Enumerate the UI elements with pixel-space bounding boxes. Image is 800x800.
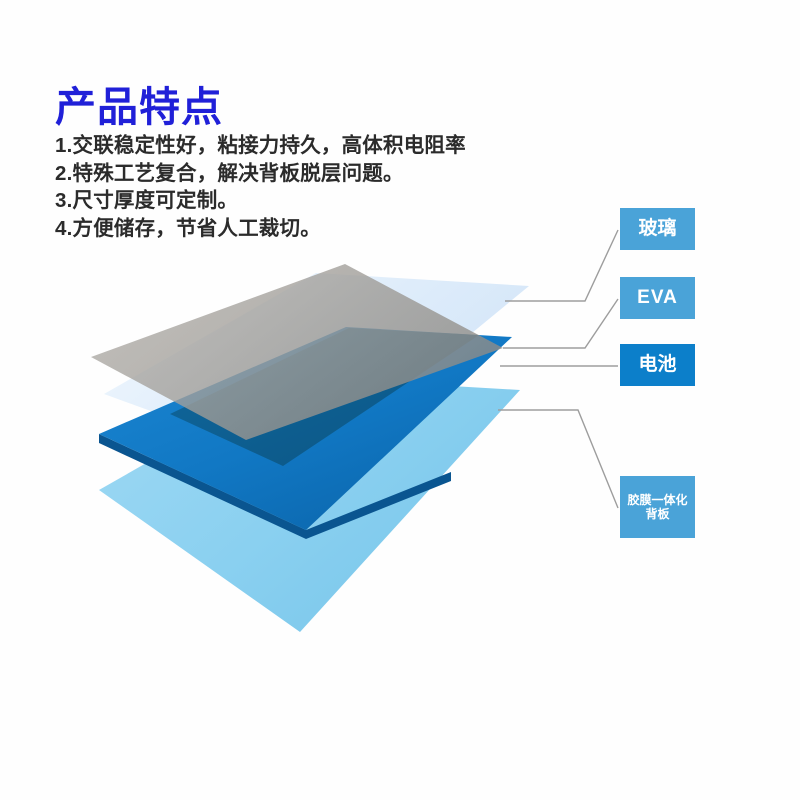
leader-line-backsheet xyxy=(498,410,618,508)
callout-cell[interactable]: 电池 xyxy=(620,344,695,386)
slide-page: 产品特点 1.交联稳定性好，粘接力持久，高体积电阻率 2.特殊工艺复合，解决背板… xyxy=(0,0,800,800)
callout-backsheet[interactable]: 胶膜一体化 背板 xyxy=(620,476,695,538)
layer-stack-diagram xyxy=(0,0,800,800)
callout-glass[interactable]: 玻璃 xyxy=(620,208,695,250)
callout-glass-label: 玻璃 xyxy=(638,218,676,240)
callout-eva[interactable]: EVA xyxy=(620,277,695,319)
callout-eva-label: EVA xyxy=(637,287,678,309)
callout-backsheet-label: 胶膜一体化 背板 xyxy=(627,493,687,521)
leader-line-eva xyxy=(503,299,618,348)
leader-lines xyxy=(498,230,618,508)
callout-cell-label: 电池 xyxy=(638,354,676,376)
